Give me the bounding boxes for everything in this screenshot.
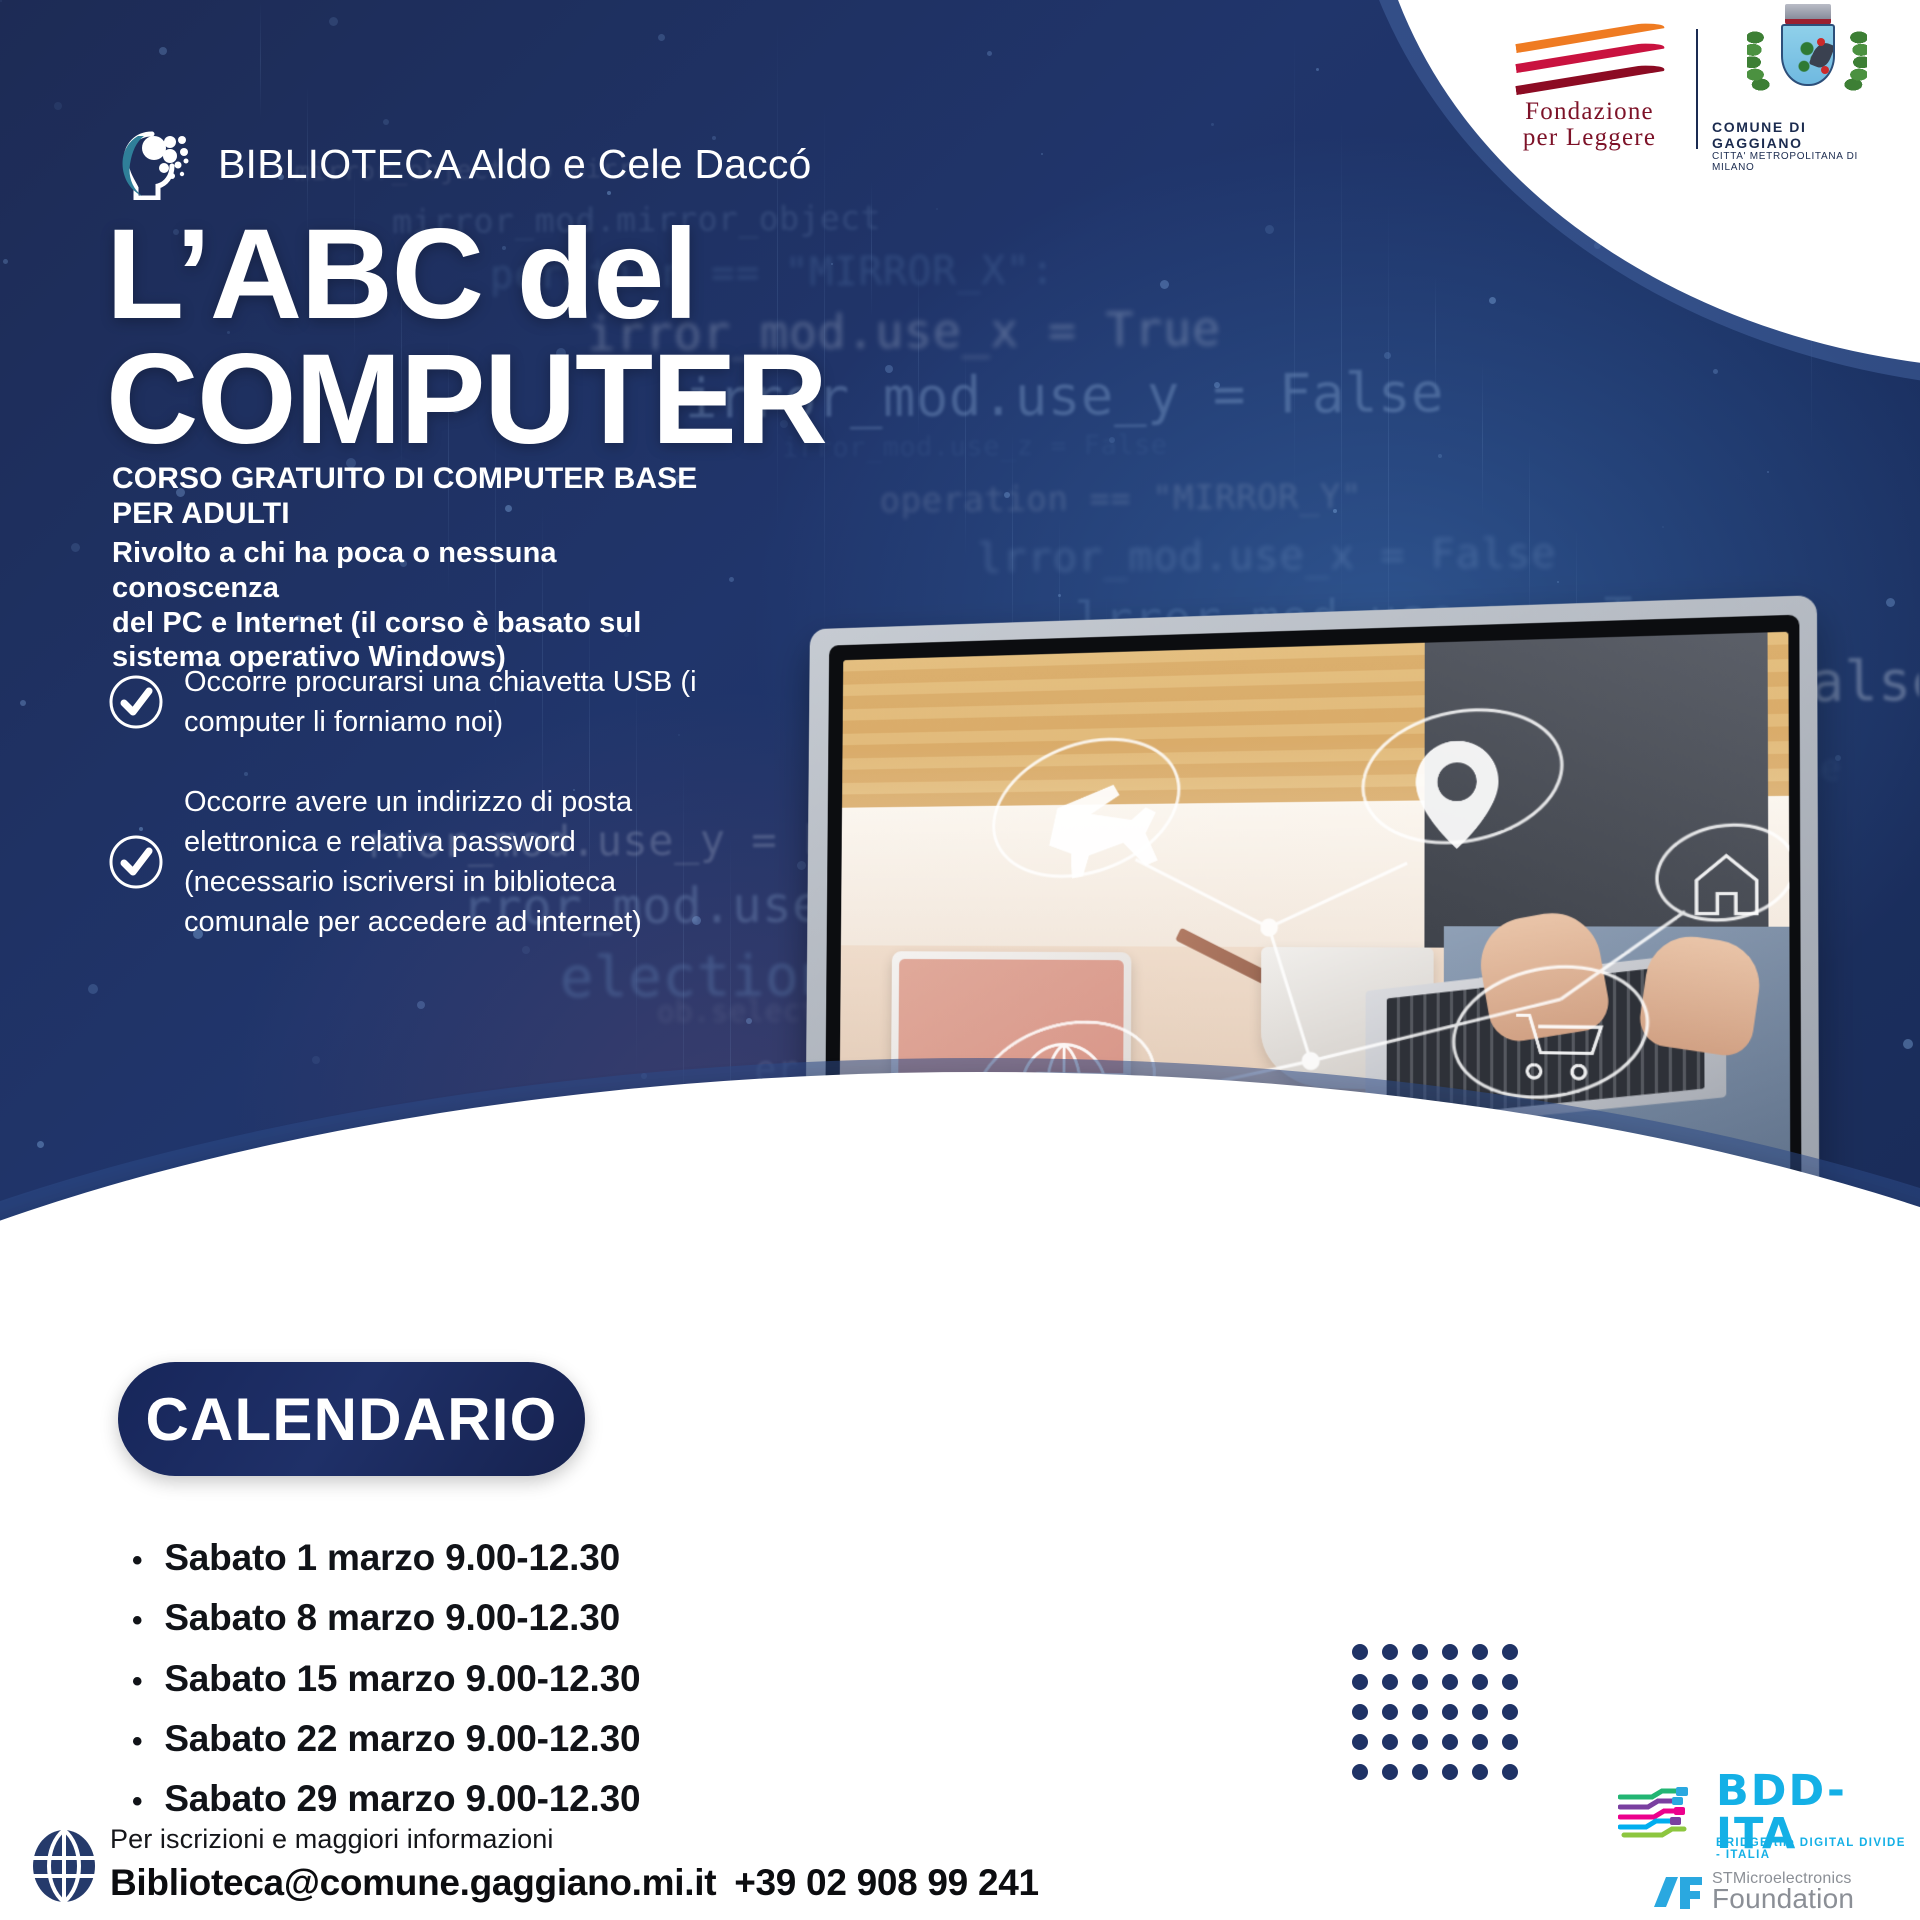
grid-dot (1412, 1674, 1428, 1690)
background-particle (88, 984, 98, 994)
lead-line-1: Rivolto a chi ha poca o nessuna (112, 536, 832, 571)
background-particle (1662, 526, 1664, 528)
grid-dot (1412, 1764, 1428, 1780)
grid-dot (1502, 1644, 1518, 1660)
check-circle-icon (108, 674, 164, 730)
calendar-date-item: Sabato 15 marzo 9.00-12.30 (132, 1649, 640, 1709)
background-particle (1160, 280, 1169, 289)
background-vertical-line (918, 262, 919, 440)
grid-dot (1472, 1674, 1488, 1690)
background-particle (417, 1001, 425, 1009)
decorative-dot-grid (1352, 1644, 1532, 1794)
background-particle (0, 0, 2, 2)
req2-line3: (necessario iscriversi in biblioteca (184, 862, 642, 902)
background-vertical-line (1294, 26, 1295, 500)
background-particle (54, 102, 62, 110)
background-vertical-line (1482, 358, 1483, 520)
check-circle-icon (108, 834, 164, 890)
grid-dot (1412, 1704, 1428, 1720)
background-particle (1316, 68, 1319, 71)
grid-dot (1382, 1734, 1398, 1750)
requirement-item: Occorre procurarsi una chiavetta USB (i … (108, 662, 808, 742)
title-line-2: COMPUTER (106, 337, 826, 462)
background-vertical-line (1341, 109, 1342, 620)
background-particle (1438, 454, 1442, 458)
background-particle (1713, 369, 1718, 374)
circuit-traces-icon (1618, 1787, 1710, 1839)
comune-name: COMUNE DI GAGGIANO (1712, 119, 1902, 151)
biblioteca-face-dots-logo-icon (108, 128, 196, 200)
background-vertical-line (260, 0, 261, 120)
grid-dot (1472, 1734, 1488, 1750)
grid-dot (1502, 1704, 1518, 1720)
requirement-item: Occorre avere un indirizzo di posta elet… (108, 782, 808, 942)
grid-dot (1472, 1764, 1488, 1780)
background-particle (1557, 581, 1559, 583)
fondazione-swoosh-icon (1515, 27, 1665, 99)
grid-dot (1382, 1704, 1398, 1720)
background-particle (383, 119, 389, 125)
grid-dot (1352, 1734, 1368, 1750)
background-particle (1265, 225, 1274, 234)
footer-phone[interactable]: +39 02 908 99 241 (734, 1862, 1039, 1903)
req2-line2: elettronica e relativa password (184, 822, 642, 862)
req2-line4: comunale per accedere ad internet) (184, 902, 642, 942)
background-particle (987, 51, 992, 56)
grid-dot (1442, 1764, 1458, 1780)
background-vertical-line (1435, 275, 1436, 400)
background-particle (831, 263, 833, 265)
grid-dot (1472, 1704, 1488, 1720)
partner-logos: Fondazione per Leggere COMUNE DI GAGGIAN… (1472, 6, 1902, 171)
background-particle (1211, 123, 1214, 126)
page-title: L’ABC del COMPUTER (106, 212, 826, 463)
st-line-2: Foundation (1712, 1885, 1854, 1913)
background-particle (1767, 471, 1769, 473)
bdd-ita-sponsor-logo: BDD-ITA BRIDGE the DIGITAL DIVIDE - ITAL… (1618, 1786, 1908, 1916)
requirements-list: Occorre procurarsi una chiavetta USB (i … (108, 662, 808, 982)
poster-canvas: mirror_object to mirrormirror_mod.mirror… (0, 0, 1920, 1920)
background-particle (37, 1141, 44, 1148)
globe-icon (30, 1828, 98, 1904)
fondazione-line2: per Leggere (1523, 125, 1656, 151)
grid-dot (1352, 1704, 1368, 1720)
background-particle (746, 1018, 752, 1024)
calendar-date-label: Sabato 29 marzo 9.00-12.30 (164, 1769, 640, 1829)
background-particle (936, 208, 938, 210)
background-particle (71, 543, 80, 552)
grid-dot (1382, 1764, 1398, 1780)
background-particle (1109, 437, 1115, 443)
lead-line-3: del PC e Internet (il corso è basato sul (112, 606, 832, 641)
st-logo-icon (1652, 1873, 1706, 1913)
library-name-label: BIBLIOTECA Aldo e Cele Daccó (218, 141, 812, 188)
footer-email[interactable]: Biblioteca@comune.gaggiano.mi.it (110, 1862, 716, 1903)
requirement-text: Occorre procurarsi una chiavetta USB (i … (184, 662, 697, 742)
calendar-date-label: Sabato 22 marzo 9.00-12.30 (164, 1709, 640, 1769)
grid-dot (1442, 1704, 1458, 1720)
grid-dot (1352, 1764, 1368, 1780)
subtitle-line-2: PER ADULTI (112, 497, 697, 532)
background-particle (159, 47, 167, 55)
calendar-heading-pill: CALENDARIO (118, 1362, 585, 1476)
grid-dot (1502, 1674, 1518, 1690)
calendar-date-label: Sabato 1 marzo 9.00-12.30 (164, 1528, 620, 1588)
calendar-date-label: Sabato 15 marzo 9.00-12.30 (164, 1649, 640, 1709)
course-subtitle: CORSO GRATUITO DI COMPUTER BASE PER ADUL… (112, 462, 697, 532)
calendar-date-item: Sabato 29 marzo 9.00-12.30 (132, 1769, 640, 1829)
background-particle (885, 365, 893, 373)
grid-dot (1412, 1734, 1428, 1750)
requirement-text: Occorre avere un indirizzo di posta elet… (184, 782, 642, 942)
title-line-1: L’ABC del (106, 212, 826, 337)
background-vertical-line (871, 179, 872, 320)
background-particle (1489, 297, 1496, 304)
background-particle (329, 17, 338, 26)
coat-of-arms-icon (1747, 4, 1867, 116)
grid-dot (1502, 1734, 1518, 1750)
course-description: Rivolto a chi ha poca o nessuna conoscen… (112, 536, 832, 675)
logo-divider (1696, 29, 1698, 149)
grid-dot (1442, 1644, 1458, 1660)
background-vertical-line (965, 345, 966, 560)
grid-dot (1352, 1674, 1368, 1690)
library-header: BIBLIOTECA Aldo e Cele Daccó (108, 128, 812, 200)
calendar-date-item: Sabato 22 marzo 9.00-12.30 (132, 1709, 640, 1769)
subtitle-line-1: CORSO GRATUITO DI COMPUTER BASE (112, 462, 697, 497)
background-particle (3, 259, 8, 264)
fondazione-line1: Fondazione (1525, 99, 1654, 125)
grid-dot (1352, 1644, 1368, 1660)
background-particle (1333, 509, 1337, 513)
grid-dot (1502, 1764, 1518, 1780)
calendar-date-item: Sabato 8 marzo 9.00-12.30 (132, 1588, 640, 1648)
footer-info-label: Per iscrizioni e maggiori informazioni (110, 1824, 553, 1855)
comune-gaggiano-logo: COMUNE DI GAGGIANO CITTA' METROPOLITANA … (1712, 4, 1902, 173)
background-particle (1214, 382, 1220, 388)
bdd-wordmark: BDD-ITA (1716, 1770, 1908, 1856)
fondazione-per-leggere-logo: Fondazione per Leggere (1497, 27, 1682, 150)
footer-contact: Biblioteca@comune.gaggiano.mi.it+39 02 9… (110, 1862, 1039, 1904)
grid-dot (1382, 1674, 1398, 1690)
background-particle (658, 34, 665, 41)
req1-line1: Occorre procurarsi una chiavetta USB (i (184, 662, 697, 702)
calendar-date-label: Sabato 8 marzo 9.00-12.30 (164, 1588, 620, 1648)
grid-dot (1442, 1674, 1458, 1690)
calendar-heading-label: CALENDARIO (146, 1385, 558, 1454)
req2-line1: Occorre avere un indirizzo di posta (184, 782, 642, 822)
background-particle (1041, 153, 1043, 155)
req1-line2: computer li forniamo noi) (184, 702, 697, 742)
grid-dot (1472, 1644, 1488, 1660)
grid-dot (1442, 1734, 1458, 1750)
calendar-date-list: Sabato 1 marzo 9.00-12.30Sabato 8 marzo … (132, 1528, 640, 1829)
lead-line-2: conoscenza (112, 571, 832, 606)
background-particle (1886, 598, 1895, 607)
background-particle (20, 700, 26, 706)
grid-dot (1382, 1644, 1398, 1660)
background-particle (1004, 492, 1010, 498)
background-particle (312, 1056, 320, 1064)
comune-subtitle: CITTA' METROPOLITANA DI MILANO (1712, 151, 1902, 173)
calendar-date-item: Sabato 1 marzo 9.00-12.30 (132, 1528, 640, 1588)
grid-dot (1412, 1644, 1428, 1660)
